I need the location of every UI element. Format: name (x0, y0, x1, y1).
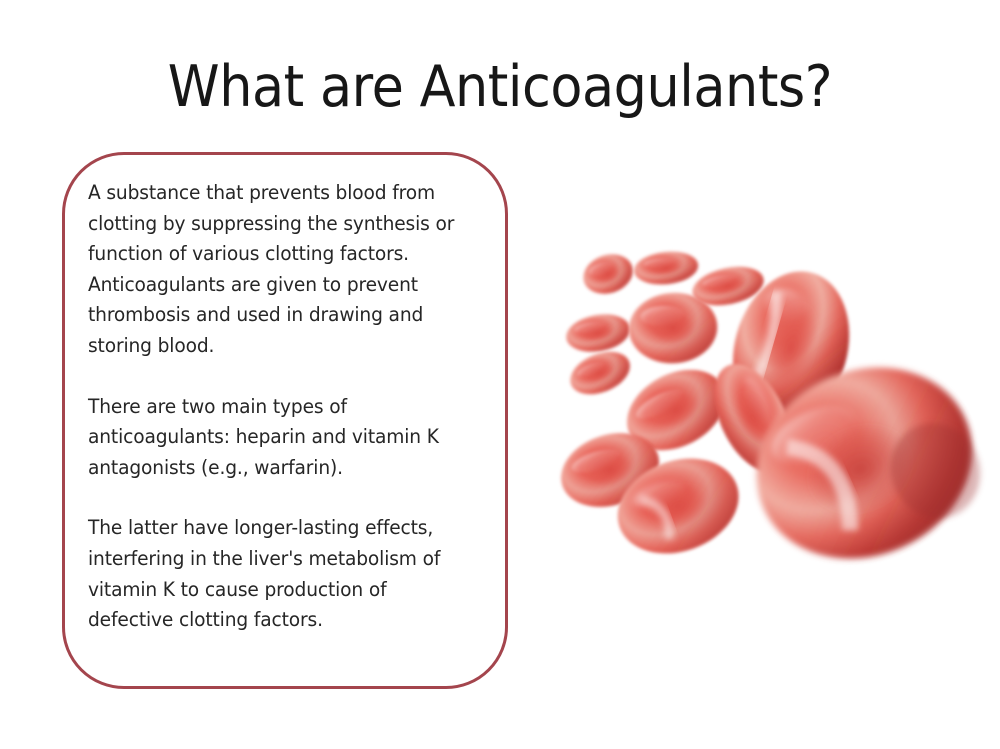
page-title: What are Anticoagulants? (40, 58, 960, 118)
definition-text-block: A substance that prevents blood from clo… (88, 178, 470, 636)
red-blood-cell (633, 249, 700, 288)
red-blood-cell (578, 248, 637, 300)
definition-paragraph-1: A substance that prevents blood from clo… (88, 178, 470, 362)
red-blood-cell (563, 310, 632, 357)
red-blood-cell (564, 344, 636, 402)
slide-canvas: What are Anticoagulants? A substance tha… (0, 0, 1000, 749)
definition-paragraph-2: There are two main types of anticoagulan… (88, 392, 470, 484)
definition-paragraph-3: The latter have longer-lasting effects, … (88, 513, 470, 635)
red-blood-cells-svg (548, 238, 1000, 610)
red-blood-cells-image (548, 238, 1000, 610)
